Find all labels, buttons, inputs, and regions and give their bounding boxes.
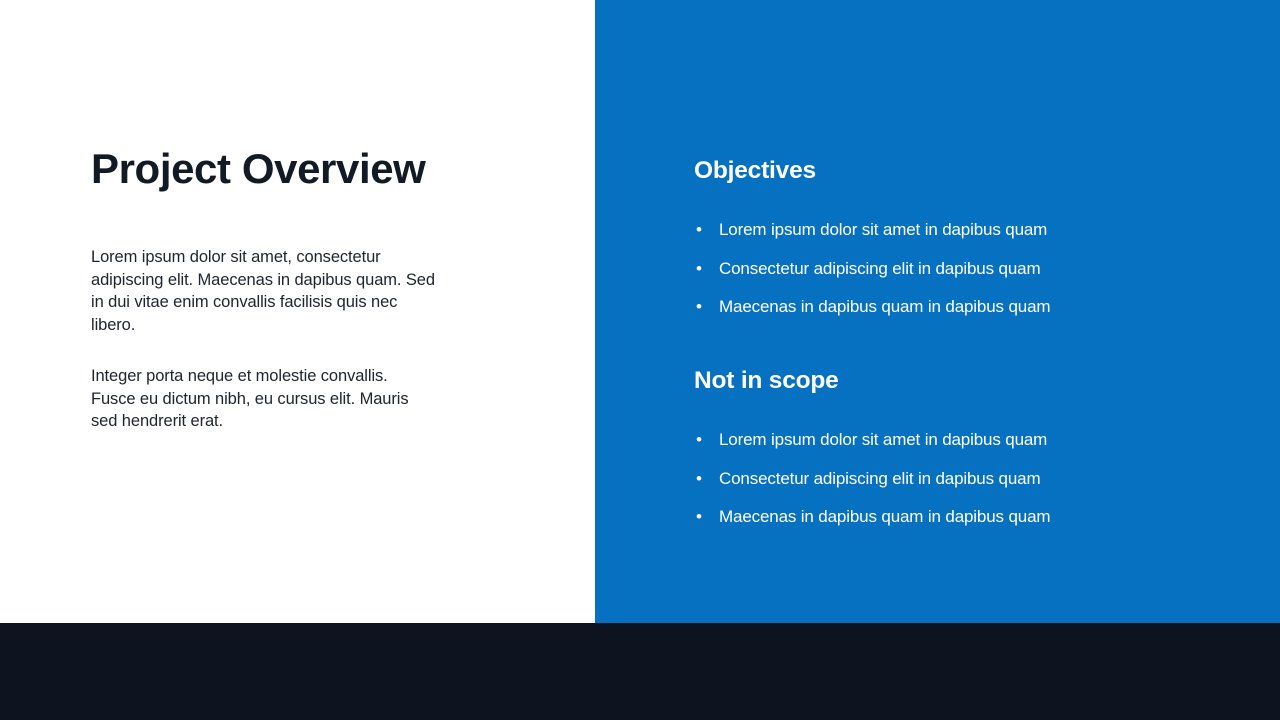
panel-heading-objectives: Objectives bbox=[694, 158, 1234, 185]
list-item-label: Consectetur adipiscing elit in dapibus q… bbox=[719, 259, 1040, 278]
bullet-dot-icon: • bbox=[696, 460, 702, 499]
bullet-dot-icon: • bbox=[696, 211, 702, 250]
list-item: • Maecenas in dapibus quam in dapibus qu… bbox=[694, 288, 1234, 327]
list-item-label: Maecenas in dapibus quam in dapibus quam bbox=[719, 297, 1050, 316]
list-item: • Lorem ipsum dolor sit amet in dapibus … bbox=[694, 421, 1234, 460]
list-item-label: Lorem ipsum dolor sit amet in dapibus qu… bbox=[719, 430, 1047, 449]
footer-dark-band bbox=[0, 623, 1280, 720]
bullet-dot-icon: • bbox=[696, 498, 702, 537]
panel-content: Objectives • Lorem ipsum dolor sit amet … bbox=[694, 158, 1234, 537]
section-spacer bbox=[694, 327, 1234, 368]
page-title: Project Overview bbox=[91, 146, 511, 191]
list-item: • Lorem ipsum dolor sit amet in dapibus … bbox=[694, 211, 1234, 250]
left-content-column: Project Overview Lorem ipsum dolor sit a… bbox=[91, 146, 511, 433]
body-paragraph-2: Integer porta neque et molestie convalli… bbox=[91, 365, 421, 433]
bullet-dot-icon: • bbox=[696, 421, 702, 460]
objectives-bullet-list: • Lorem ipsum dolor sit amet in dapibus … bbox=[694, 211, 1234, 327]
body-paragraph-1: Lorem ipsum dolor sit amet, consectetur … bbox=[91, 246, 439, 336]
slide-canvas: Project Overview Lorem ipsum dolor sit a… bbox=[0, 0, 1280, 720]
bullet-dot-icon: • bbox=[696, 288, 702, 327]
panel-heading-not-in-scope: Not in scope bbox=[694, 368, 1234, 395]
bullet-dot-icon: • bbox=[696, 250, 702, 289]
list-item-label: Consectetur adipiscing elit in dapibus q… bbox=[719, 469, 1040, 488]
not-in-scope-bullet-list: • Lorem ipsum dolor sit amet in dapibus … bbox=[694, 421, 1234, 537]
list-item-label: Maecenas in dapibus quam in dapibus quam bbox=[719, 507, 1050, 526]
list-item: • Consectetur adipiscing elit in dapibus… bbox=[694, 460, 1234, 499]
list-item: • Consectetur adipiscing elit in dapibus… bbox=[694, 250, 1234, 289]
list-item-label: Lorem ipsum dolor sit amet in dapibus qu… bbox=[719, 220, 1047, 239]
list-item: • Maecenas in dapibus quam in dapibus qu… bbox=[694, 498, 1234, 537]
